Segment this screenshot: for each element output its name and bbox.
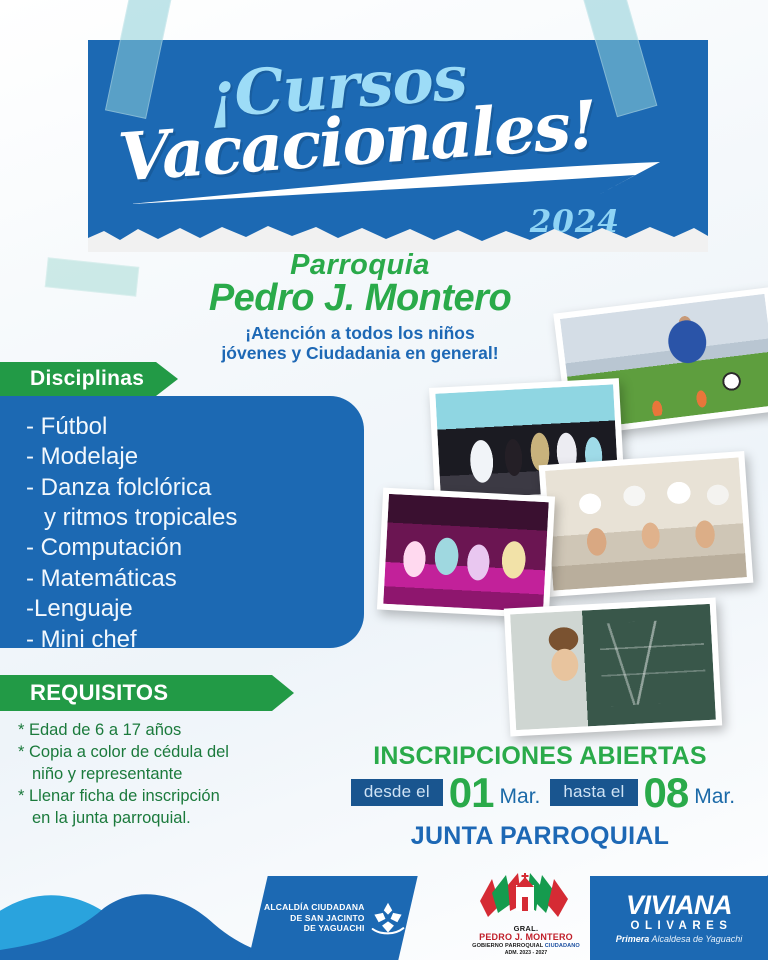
disciplines-panel: - Fútbol - Modelaje - Danza folclórica y…	[0, 396, 364, 648]
list-item: - Modelaje	[26, 442, 364, 472]
requirements-heading: REQUISITOS	[30, 680, 168, 706]
photo-mini-chef-image	[545, 457, 747, 590]
attention-line-2: jóvenes y Ciudadania en general!	[150, 343, 570, 363]
to-day: 08	[644, 774, 689, 812]
gad-line-4: ADM. 2023 - 2027	[505, 950, 547, 956]
footer: ALCALDÍA CIUDADANA DE SAN JACINTO DE YAG…	[0, 865, 768, 960]
alcaldia-text: ALCALDÍA CIUDADANA DE SAN JACINTO DE YAG…	[264, 902, 365, 934]
disciplines-ribbon: Disciplinas	[0, 362, 156, 396]
poster-root: ¡Cursos Vacacionales! 2024 Parroquia Ped…	[0, 0, 768, 960]
parish-label: Parroquia	[150, 250, 570, 280]
from-month: Mar.	[500, 785, 541, 812]
logo-viviana-olivares: VIVIANA OLIVARES Primera Alcaldesa de Ya…	[590, 876, 768, 960]
requirements-ribbon: REQUISITOS	[0, 675, 272, 711]
photo-matematicas-image	[510, 604, 716, 730]
viviana-subtitle: Primera Alcaldesa de Yaguachi	[616, 934, 742, 945]
list-item: - Mini chef	[26, 625, 364, 655]
viviana-surname: OLIVARES	[626, 919, 733, 934]
enrollment-date-range: desde el 01 Mar. hasta el 08 Mar.	[322, 774, 768, 812]
list-item: * Llenar ficha de inscripción	[18, 786, 348, 808]
list-item: - Danza folclórica	[26, 473, 364, 503]
parish-heading-block: Parroquia Pedro J. Montero ¡Atención a t…	[150, 250, 570, 364]
list-item: * Edad de 6 a 17 años	[18, 720, 348, 742]
alcaldia-line-3: DE YAGUACHI	[264, 923, 365, 934]
gad-line-3: GOBIERNO PARROQUIAL CIUDADANO	[472, 943, 580, 950]
requirements-list: * Edad de 6 a 17 años * Copia a color de…	[18, 720, 348, 830]
attention-line-1: ¡Atención a todos los niños	[150, 323, 570, 343]
gad-line-2: PEDRO J. MONTERO	[479, 933, 573, 943]
photo-danza	[377, 488, 555, 619]
to-label: hasta el	[550, 779, 637, 806]
gad-line-3-a: GOBIERNO PARROQUIAL	[472, 943, 545, 949]
list-item: en la junta parroquial.	[18, 808, 348, 830]
from-day: 01	[449, 774, 494, 812]
list-item: * Copia a color de cédula del	[18, 742, 348, 764]
attention-text: ¡Atención a todos los niños jóvenes y Ci…	[150, 323, 570, 363]
viviana-subtitle-rest: Alcaldesa de Yaguachi	[649, 934, 742, 944]
star-icon	[371, 901, 405, 935]
parish-name: Pedro J. Montero	[150, 279, 570, 319]
disciplines-heading: Disciplinas	[30, 367, 144, 391]
logo-gad-parroquial: GRAL. PEDRO J. MONTERO GOBIERNO PARROQUI…	[468, 870, 584, 956]
list-item: niño y representante	[18, 764, 348, 786]
list-item: - Computación	[26, 533, 364, 563]
from-label: desde el	[351, 779, 443, 806]
alcaldia-line-1: ALCALDÍA CIUDADANA	[264, 902, 365, 913]
enrollment-title: INSCRIPCIONES ABIERTAS	[330, 742, 750, 771]
alcaldia-line-2: DE SAN JACINTO	[264, 913, 365, 924]
photo-mini-chef	[539, 451, 754, 597]
tape-strip-side	[45, 257, 140, 296]
torn-paper-edge	[88, 222, 708, 252]
list-item: -Lenguaje	[26, 594, 364, 624]
viviana-first-name: VIVIANA	[626, 892, 732, 919]
gad-line-3-b: CIUDADANO	[545, 943, 580, 949]
list-item: - Matemáticas	[26, 564, 364, 594]
list-item: y ritmos tropicales	[26, 503, 364, 533]
logo-alcaldia: ALCALDÍA CIUDADANA DE SAN JACINTO DE YAG…	[248, 876, 417, 960]
title-line-2: Vacacionales!	[116, 85, 598, 196]
gad-flags-icon	[474, 871, 578, 925]
photo-danza-image	[383, 494, 549, 612]
disciplines-list: - Fútbol - Modelaje - Danza folclórica y…	[26, 412, 364, 655]
enrollment-place: JUNTA PARROQUIAL	[330, 822, 750, 851]
to-month: Mar.	[694, 785, 735, 812]
list-item: - Fútbol	[26, 412, 364, 442]
viviana-subtitle-bold: Primera	[616, 934, 650, 944]
photo-matematicas	[504, 598, 722, 737]
